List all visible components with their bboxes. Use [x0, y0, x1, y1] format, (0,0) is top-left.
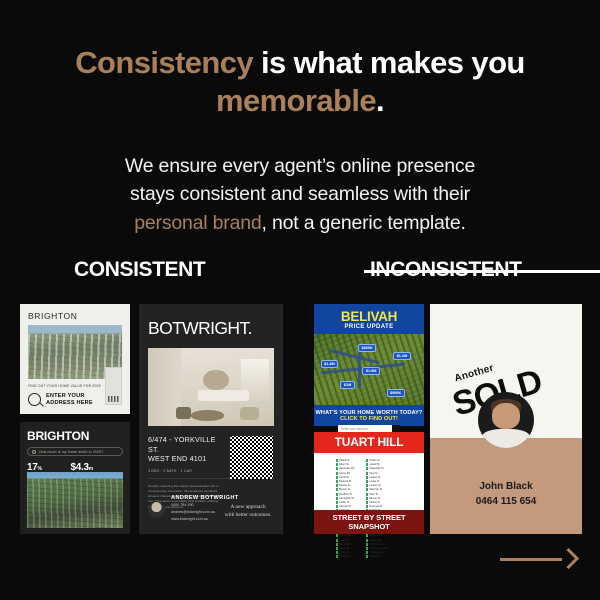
street-growth-bar — [366, 484, 368, 487]
street-name: Harley St — [339, 551, 349, 554]
street-row: Green St — [336, 547, 354, 550]
render-sofa — [198, 390, 248, 401]
tagline-line-1: A new approach — [230, 504, 265, 510]
street-name: Bourke St — [339, 484, 350, 487]
street-growth-bar — [336, 543, 338, 546]
body-line-2: stays consistent and seamless with their — [130, 183, 470, 205]
street-row: Robinson St — [366, 543, 388, 546]
street-row: Mary St — [366, 493, 388, 496]
street-growth-bar — [366, 547, 368, 550]
body-paragraph: We ensure every agent’s online presence … — [44, 152, 556, 237]
street-row: Arnott St — [336, 476, 354, 479]
street-growth-bar — [366, 539, 368, 542]
street-growth-bar — [336, 463, 338, 466]
street-row: Bourke St — [336, 484, 354, 487]
sold-agent-phone: 0464 115 654 — [430, 496, 582, 507]
street-name: Green St — [339, 547, 349, 550]
street-name: Morley St — [369, 501, 380, 504]
street-name: Bradford St — [339, 493, 352, 496]
street-name: Hertha Rd — [339, 555, 350, 558]
street-name: Leake St — [369, 480, 379, 483]
flyer-botwright[interactable]: BOTWRIGHT. 6/474 - YORKVILLE ST. WEST EN… — [139, 304, 283, 534]
street-row: Sussex St — [366, 555, 388, 558]
street-column-left: Abbett StAlbert StAlexander RdAnzac RdAr… — [336, 459, 354, 558]
street-row: Brewer St — [336, 488, 354, 491]
street-name: Arnott St — [339, 476, 349, 479]
street-row: King St — [366, 472, 388, 475]
street-name: Chester St — [339, 505, 351, 508]
headline-accent-1: Consistency — [75, 45, 253, 80]
aerial-photo-dark — [27, 472, 123, 528]
search-icon — [32, 450, 36, 454]
street-name: Mercer St — [369, 497, 380, 500]
street-name: Railway Pde — [369, 534, 383, 537]
street-growth-bar — [336, 547, 338, 550]
street-growth-bar — [366, 497, 368, 500]
street-name: Anzac Rd — [339, 472, 350, 475]
street-row: Harley St — [336, 551, 354, 554]
street-growth-bar — [366, 472, 368, 475]
street-name: Cedric St — [339, 501, 349, 504]
street-row: Marmion St — [366, 488, 388, 491]
portrait-face — [492, 403, 520, 429]
headline-plain-1: is what makes you — [253, 45, 525, 80]
street-row: Cedric St — [336, 501, 354, 504]
street-growth-bar — [366, 551, 368, 554]
street-name: Kalgoorlie St — [369, 467, 383, 470]
belivah-input-placeholder: Enter your address... — [338, 427, 392, 431]
street-name: Marmion St — [369, 488, 382, 491]
page-title: Consistency is what makes you memorable. — [0, 44, 600, 120]
street-row: Kalgoorlie St — [366, 467, 388, 470]
street-growth-bar — [336, 497, 338, 500]
street-growth-bar — [336, 501, 338, 504]
street-growth-bar — [366, 459, 368, 462]
avatar — [148, 501, 165, 518]
body-accent: personal brand — [134, 212, 261, 234]
street-growth-bar — [366, 476, 368, 479]
street-row: London St — [366, 484, 388, 487]
street-name: Banksia St — [339, 480, 351, 483]
street-growth-bar — [366, 501, 368, 504]
street-name: Lawley St — [369, 476, 380, 479]
street-name: Shakespeare St — [369, 551, 387, 554]
botwright-brand: BOTWRIGHT. — [139, 304, 283, 339]
street-row: Scarborough Bch — [366, 547, 388, 550]
map-road-3 — [358, 351, 361, 388]
body-line-1: We ensure every agent’s online presence — [125, 155, 475, 177]
street-row: Carrington St — [336, 497, 354, 500]
street-growth-bar — [336, 493, 338, 496]
street-row: Anzac Rd — [336, 472, 354, 475]
street-name: Robinson St — [369, 543, 383, 546]
arrow-head — [558, 548, 579, 569]
belivah-subtitle: PRICE UPDATE — [314, 324, 424, 330]
street-growth-bar — [336, 476, 338, 479]
street-growth-bar — [336, 467, 338, 470]
address-line-2: WEST END 4101 — [148, 454, 206, 463]
street-row: Lawley St — [366, 476, 388, 479]
street-name: Scarborough Bch — [369, 547, 388, 550]
street-row: Newman St — [366, 505, 388, 508]
street-row: Shakespeare St — [366, 551, 388, 554]
render-ottoman — [191, 410, 224, 420]
street-row: Leake St — [366, 480, 388, 483]
street-growth-bar — [366, 555, 368, 558]
portrait-shirt — [482, 429, 530, 448]
brighton-search-placeholder: How much is my home worth in 2025? — [39, 450, 103, 454]
report-thumbnail — [105, 367, 122, 405]
street-row: Grand Prom — [336, 543, 354, 546]
street-row: Alexander Rd — [336, 467, 354, 470]
price-bubble-6: $900K — [387, 389, 405, 397]
belivah-cta-line-2: CLICK TO FIND OUT! — [314, 416, 424, 422]
street-name: King St — [369, 472, 377, 475]
label-consistent: CONSISTENT — [74, 258, 205, 282]
street-growth-bar — [366, 493, 368, 496]
street-row: Abbett St — [336, 459, 354, 462]
street-name: London St — [369, 484, 380, 487]
agent-portrait — [478, 392, 534, 448]
brighton-search-field[interactable]: How much is my home worth in 2025? — [27, 447, 123, 456]
street-name: Hutton St — [369, 459, 379, 462]
belivah-title: BELIVAH — [314, 304, 424, 324]
street-growth-bar — [336, 539, 338, 542]
street-growth-bar — [366, 505, 368, 508]
tuart-hill-title: TUART HILL — [314, 432, 424, 453]
tagline-line-2: with better outcomes. — [225, 512, 272, 518]
street-row: Hutton St — [366, 459, 388, 462]
street-growth-bar — [336, 472, 338, 475]
street-row: Raglan Rd — [366, 539, 388, 542]
qr-code-icon[interactable] — [230, 436, 273, 479]
price-bubble-5: $1M — [340, 381, 354, 389]
street-row: Chester St — [336, 505, 354, 508]
street-row: Mercer St — [366, 497, 388, 500]
street-name: Grand Prom — [339, 543, 353, 546]
street-row: Railway Pde — [366, 534, 388, 537]
street-name: Fleming St — [339, 534, 351, 537]
street-column-right: Hutton StJewell StKalgoorlie StKing StLa… — [366, 459, 388, 558]
street-name: Brewer St — [339, 488, 350, 491]
street-growth-bar — [336, 534, 338, 537]
belivah-map: $800K $1.2M $1.4M $1.5M $1M $900K — [314, 334, 424, 405]
street-row: Banksia St — [336, 480, 354, 483]
street-growth-bar — [336, 488, 338, 491]
street-row: Hertha Rd — [336, 555, 354, 558]
street-name: Jewell St — [369, 463, 379, 466]
street-row: Jewell St — [366, 463, 388, 466]
tuart-hill-footer: STREET BY STREET SNAPSHOT — [314, 510, 424, 534]
slide-root: Consistency is what makes you memorable.… — [0, 0, 600, 600]
street-row: Fleming St — [336, 534, 354, 537]
street-name: Alexander Rd — [339, 467, 354, 470]
street-name: Abbett St — [339, 459, 349, 462]
flyer-brighton-light[interactable]: BRIGHTON FIND OUT YOUR HOME VALUE FOR 20… — [20, 304, 130, 414]
render-pouf — [176, 407, 191, 419]
street-row: Albert St — [336, 463, 354, 466]
street-name: Raglan Rd — [369, 539, 381, 542]
arrow-right-icon[interactable] — [500, 548, 576, 570]
street-growth-bar — [366, 480, 368, 483]
street-growth-bar — [336, 505, 338, 508]
street-growth-bar — [336, 484, 338, 487]
botwright-tagline: A new approach with better outcomes. — [223, 503, 273, 519]
address-cta-label: ENTER YOUR ADDRESS HERE — [46, 393, 93, 407]
flyer-brighton-dark[interactable]: BRIGHTON How much is my home worth in 20… — [20, 422, 130, 534]
brighton-light-heading: BRIGHTON — [20, 304, 130, 325]
street-name: Sussex St — [369, 555, 380, 558]
price-bubble-3: $1.4M — [321, 360, 339, 368]
magnifier-icon — [28, 393, 41, 406]
botwright-address: 6/474 - YORKVILLE ST. WEST END 4101 — [139, 426, 225, 464]
brighton-dark-heading: BRIGHTON — [20, 422, 130, 443]
render-art-circle — [203, 370, 228, 390]
street-growth-bar — [336, 480, 338, 483]
agent-name: ANDREW BOTWRIGHT — [171, 495, 239, 501]
street-row: Morley St — [366, 501, 388, 504]
street-growth-bar — [366, 463, 368, 466]
flyer-tuart-hill[interactable]: TUART HILL Abbett StAlbert StAlexander R… — [314, 432, 424, 534]
render-chair — [240, 407, 259, 419]
flyer-belivah[interactable]: BELIVAH PRICE UPDATE $800K $1.2M $1.4M $… — [314, 304, 424, 426]
street-name: Gould St — [339, 539, 349, 542]
label-inconsistent: INCONSISTENT — [370, 258, 600, 282]
interior-render — [148, 348, 274, 426]
street-growth-bar — [336, 555, 338, 558]
street-growth-bar — [336, 551, 338, 554]
street-row: Gould St — [336, 539, 354, 542]
headline-accent-2: memorable — [216, 83, 376, 118]
belivah-cta-line-1: WHAT'S YOUR HOME WORTH TODAY? — [314, 405, 424, 416]
flyer-gallery: BRIGHTON FIND OUT YOUR HOME VALUE FOR 20… — [0, 300, 600, 536]
flyer-sold[interactable]: Another SOLD John Black 0464 115 654 — [430, 304, 582, 534]
street-columns: Abbett StAlbert StAlexander RdAnzac RdAr… — [314, 453, 424, 558]
street-row: Bradford St — [336, 493, 354, 496]
street-growth-bar — [366, 543, 368, 546]
price-bubble-1: $800K — [358, 344, 376, 352]
street-name: Albert St — [339, 463, 349, 466]
sold-agent-name: John Black — [430, 481, 582, 492]
street-name: Mary St — [369, 493, 378, 496]
street-growth-bar — [336, 459, 338, 462]
price-bubble-2: $1.2M — [393, 352, 411, 360]
street-name: Carrington St — [339, 497, 354, 500]
street-growth-bar — [366, 534, 368, 537]
body-line-3: , not a generic template. — [262, 212, 466, 234]
street-growth-bar — [366, 488, 368, 491]
arrow-shaft — [500, 558, 562, 561]
street-growth-bar — [366, 467, 368, 470]
street-name: Newman St — [369, 505, 382, 508]
address-line-1: 6/474 - YORKVILLE ST. — [148, 435, 216, 454]
price-bubble-4: $1.5M — [362, 367, 380, 375]
headline-plain-2: . — [376, 83, 384, 118]
